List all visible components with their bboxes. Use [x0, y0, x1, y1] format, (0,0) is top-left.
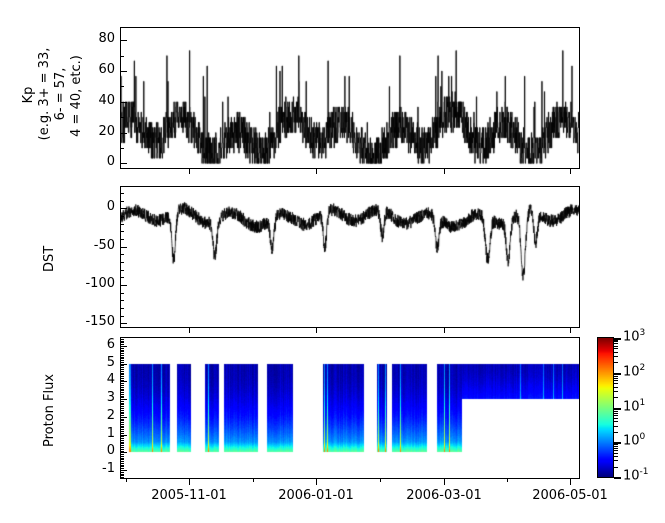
- axis-tick: [614, 444, 618, 445]
- axis-tick: [120, 339, 124, 340]
- axis-tick: [120, 247, 127, 248]
- proton-flux-heatmap-canvas: [121, 338, 579, 478]
- colorbar-tick-label: 103: [623, 328, 645, 344]
- axis-tick: [120, 390, 124, 391]
- dst-tick-label: -50: [72, 238, 115, 253]
- flux-tick-label: 6: [72, 337, 115, 352]
- axis-tick: [120, 56, 124, 57]
- dst-tick-label: -150: [72, 314, 115, 329]
- axis-tick: [120, 389, 124, 390]
- axis-tick: [120, 440, 124, 441]
- axis-tick: [120, 102, 127, 103]
- axis-tick: [120, 408, 124, 409]
- axis-tick: [120, 429, 124, 430]
- axis-tick: [316, 327, 317, 333]
- axis-tick: [120, 358, 124, 359]
- axis-tick: [120, 442, 124, 443]
- dst-plot-canvas: [121, 187, 579, 327]
- axis-tick: [120, 394, 124, 395]
- axis-tick: [189, 478, 190, 485]
- axis-tick: [614, 421, 618, 422]
- axis-tick: [120, 466, 124, 467]
- axis-tick: [120, 380, 124, 381]
- axis-tick: [120, 351, 124, 352]
- axis-tick: [120, 378, 124, 379]
- axis-tick: [614, 391, 618, 392]
- axis-tick: [614, 411, 618, 412]
- x-tick-label: 2006-03-01: [399, 488, 489, 503]
- kp-axis-label-detail: (e.g. 3+ = 33,: [38, 10, 52, 178]
- axis-tick: [120, 148, 124, 149]
- axis-tick: [614, 453, 618, 454]
- axis-tick: [120, 447, 124, 448]
- axis-tick: [614, 378, 618, 379]
- x-tick-label: 2006-05-01: [525, 488, 615, 503]
- colorbar-tick-label: 102: [623, 363, 645, 379]
- axis-tick: [614, 446, 618, 447]
- axis-tick: [126, 478, 127, 482]
- axis-tick: [120, 231, 124, 232]
- proton-flux-axis-label: Proton Flux: [42, 374, 57, 447]
- flux-tick-label: 4: [72, 372, 115, 387]
- axis-tick: [120, 392, 124, 393]
- flux-tick-label: 2: [72, 408, 115, 423]
- axis-tick: [570, 478, 571, 485]
- axis-tick: [614, 477, 621, 479]
- axis-tick: [120, 362, 124, 363]
- axis-tick: [120, 406, 124, 407]
- axis-tick: [120, 422, 124, 423]
- axis-tick: [120, 420, 124, 421]
- axis-tick: [614, 432, 618, 433]
- kp-panel: [120, 27, 580, 169]
- axis-tick: [120, 369, 124, 370]
- kp-plot-canvas: [121, 28, 579, 168]
- axis-tick: [120, 424, 124, 425]
- axis-tick: [120, 201, 124, 202]
- axis-tick: [120, 239, 124, 240]
- colorbar-tick-label: 101: [623, 398, 645, 414]
- axis-tick: [120, 71, 127, 72]
- axis-tick: [120, 417, 127, 418]
- axis-tick: [120, 443, 124, 444]
- axis-tick: [120, 433, 124, 434]
- axis-tick: [120, 86, 124, 87]
- axis-tick: [120, 381, 127, 382]
- axis-tick: [120, 396, 124, 397]
- axis-tick: [120, 262, 124, 263]
- colorbar-tick-label: 100: [623, 432, 645, 448]
- axis-tick: [120, 403, 124, 404]
- axis-tick: [614, 387, 618, 388]
- flux-tick-label: -1: [72, 461, 115, 476]
- flux-tick-label: 0: [72, 443, 115, 458]
- axis-tick: [120, 300, 124, 301]
- axis-tick: [120, 357, 124, 358]
- axis-tick: [189, 327, 190, 333]
- axis-tick: [507, 478, 508, 482]
- axis-tick: [316, 478, 317, 485]
- axis-tick: [614, 374, 618, 375]
- axis-tick: [614, 343, 618, 344]
- axis-tick: [120, 456, 124, 457]
- axis-tick: [120, 360, 124, 361]
- axis-tick: [614, 380, 618, 381]
- axis-tick: [120, 387, 124, 388]
- axis-tick: [120, 449, 124, 450]
- axis-tick: [120, 374, 124, 375]
- kp-tick-label: 0: [72, 154, 115, 169]
- axis-tick: [120, 445, 124, 446]
- axis-tick: [614, 362, 618, 363]
- axis-tick: [120, 346, 127, 347]
- axis-tick: [120, 341, 124, 342]
- kp-tick-label: 20: [72, 124, 115, 139]
- dst-tick-label: 0: [72, 199, 115, 214]
- kp-axis-label-detail2: 6- = 57,: [54, 25, 68, 163]
- colorbar: [597, 337, 614, 478]
- axis-tick: [120, 461, 124, 462]
- axis-tick: [614, 413, 618, 414]
- axis-tick: [614, 383, 618, 384]
- axis-tick: [120, 270, 124, 271]
- kp-tick-label: 60: [72, 62, 115, 77]
- dst-axis-label: DST: [42, 246, 57, 272]
- axis-tick: [120, 426, 124, 427]
- axis-tick: [120, 465, 124, 466]
- axis-tick: [614, 456, 618, 457]
- axis-tick: [120, 163, 127, 164]
- axis-tick: [120, 410, 124, 411]
- kp-label-line3: 6- = 57,: [53, 68, 68, 121]
- axis-tick: [614, 356, 618, 357]
- figure-root: Kp (e.g. 3+ = 33, 6- = 57, 4 = 40, etc.)…: [0, 0, 665, 523]
- axis-tick: [444, 168, 445, 174]
- dst-panel: [120, 186, 580, 328]
- axis-tick: [614, 426, 618, 427]
- axis-tick: [120, 397, 124, 398]
- axis-tick: [120, 451, 124, 452]
- axis-tick: [120, 193, 124, 194]
- axis-tick: [614, 460, 618, 461]
- axis-tick: [120, 355, 124, 356]
- axis-tick: [614, 467, 618, 468]
- axis-tick: [120, 316, 124, 317]
- axis-tick: [120, 472, 124, 473]
- axis-tick: [120, 293, 124, 294]
- axis-tick: [120, 431, 124, 432]
- kp-tick-label: 40: [72, 93, 115, 108]
- axis-tick: [120, 117, 124, 118]
- axis-tick: [120, 401, 124, 402]
- dst-tick-label: -100: [72, 276, 115, 291]
- axis-tick: [120, 427, 124, 428]
- proton-flux-axis-label-text: Proton Flux: [42, 374, 57, 447]
- axis-tick: [614, 409, 618, 410]
- axis-tick: [120, 353, 124, 354]
- axis-tick: [120, 470, 127, 471]
- axis-tick: [614, 341, 618, 342]
- axis-tick: [120, 404, 124, 405]
- colorbar-gradient: [598, 338, 613, 477]
- axis-tick: [614, 376, 618, 377]
- axis-tick: [120, 468, 124, 469]
- axis-tick: [120, 285, 127, 286]
- axis-tick: [316, 168, 317, 174]
- axis-tick: [614, 418, 618, 419]
- axis-tick: [120, 40, 127, 41]
- axis-tick: [120, 376, 124, 377]
- x-tick-label: 2006-01-01: [271, 488, 361, 503]
- axis-tick: [614, 348, 618, 349]
- axis-tick: [189, 168, 190, 174]
- axis-tick: [120, 367, 124, 368]
- kp-axis-label: Kp: [22, 20, 36, 170]
- axis-tick: [120, 438, 124, 439]
- axis-tick: [120, 475, 124, 476]
- axis-tick: [120, 474, 124, 475]
- axis-tick: [120, 415, 124, 416]
- axis-tick: [120, 459, 124, 460]
- axis-tick: [120, 371, 124, 372]
- axis-tick: [120, 413, 124, 414]
- axis-tick: [614, 397, 618, 398]
- axis-tick: [120, 216, 124, 217]
- axis-tick: [120, 277, 124, 278]
- axis-tick: [614, 340, 618, 341]
- axis-tick: [253, 478, 254, 482]
- axis-tick: [120, 383, 124, 384]
- axis-tick: [120, 133, 127, 134]
- axis-tick: [120, 477, 124, 478]
- axis-tick: [120, 399, 127, 400]
- axis-tick: [120, 463, 124, 464]
- proton-flux-panel: [120, 337, 580, 479]
- axis-tick: [120, 350, 124, 351]
- axis-tick: [120, 412, 124, 413]
- axis-tick: [120, 308, 124, 309]
- axis-tick: [444, 478, 445, 485]
- axis-tick: [120, 344, 124, 345]
- axis-tick: [614, 346, 618, 347]
- axis-tick: [120, 385, 124, 386]
- axis-tick: [614, 450, 618, 451]
- axis-tick: [570, 168, 571, 174]
- axis-tick: [120, 436, 124, 437]
- axis-tick: [380, 478, 381, 482]
- axis-tick: [120, 419, 124, 420]
- axis-tick: [120, 254, 124, 255]
- colorbar-tick-label: 10-1: [623, 467, 649, 483]
- kp-label-line2: (e.g. 3+ = 33,: [37, 48, 52, 141]
- flux-tick-label: 1: [72, 426, 115, 441]
- axis-tick: [120, 323, 127, 324]
- x-tick-label: 2005-11-01: [144, 488, 234, 503]
- axis-tick: [120, 373, 124, 374]
- axis-tick: [120, 342, 124, 343]
- kp-label-line1: Kp: [21, 87, 36, 104]
- axis-tick: [120, 208, 127, 209]
- kp-tick-label: 80: [72, 31, 115, 46]
- axis-tick: [120, 454, 124, 455]
- axis-tick: [614, 448, 618, 449]
- axis-tick: [614, 415, 618, 416]
- axis-tick: [120, 348, 124, 349]
- dst-axis-label-text: DST: [42, 246, 57, 272]
- axis-tick: [444, 327, 445, 333]
- flux-tick-label: 5: [72, 355, 115, 370]
- axis-tick: [120, 452, 127, 453]
- axis-tick: [570, 327, 571, 333]
- axis-tick: [120, 365, 124, 366]
- axis-tick: [614, 352, 618, 353]
- axis-tick: [120, 224, 124, 225]
- axis-tick: [120, 458, 124, 459]
- flux-tick-label: 3: [72, 390, 115, 405]
